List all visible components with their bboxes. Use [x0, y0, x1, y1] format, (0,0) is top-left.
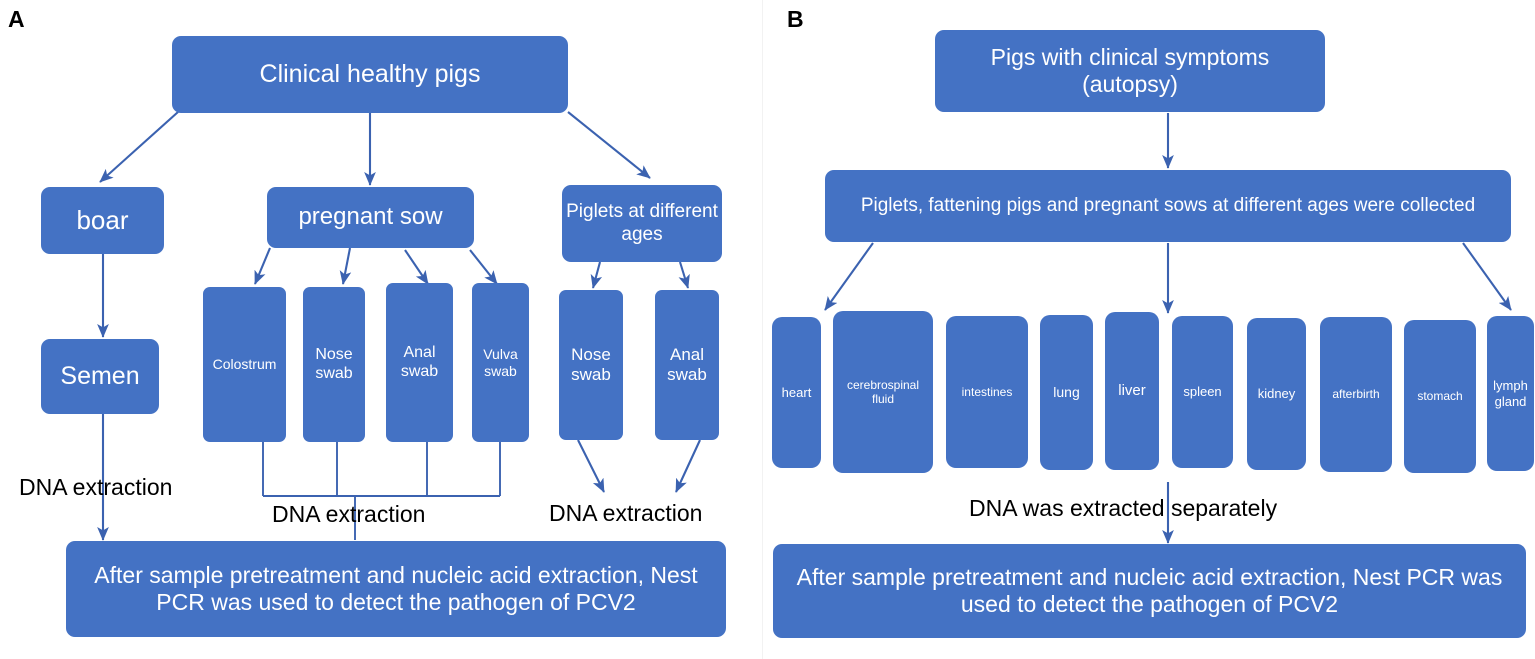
node-piglet-nose-swab[interactable]: Nose swab — [559, 290, 623, 440]
node-organ-spleen[interactable]: spleen — [1172, 316, 1233, 468]
node-organ-lung[interactable]: lung — [1040, 315, 1093, 470]
node-piglet-anal-swab[interactable]: Anal swab — [655, 290, 719, 440]
node-result-panel-a[interactable]: After sample pretreatment and nucleic ac… — [66, 541, 726, 637]
node-pregnant-sow[interactable]: pregnant sow — [267, 187, 474, 248]
node-sample-nose-swab[interactable]: Nose swab — [303, 287, 365, 442]
caption-dna-extracted-separately: DNA was extracted separately — [969, 497, 1277, 520]
node-sample-anal-swab[interactable]: Anal swab — [386, 283, 453, 442]
node-collection[interactable]: Piglets, fattening pigs and pregnant sow… — [825, 170, 1511, 242]
caption-piglet-dna-extraction: DNA extraction — [549, 502, 702, 525]
panel-b: B Pigs with clinical symptoms (autopsy) — [762, 0, 1535, 659]
panel-b-label: B — [787, 8, 804, 31]
node-piglets-different-ages[interactable]: Piglets at different ages — [562, 185, 722, 262]
node-boar[interactable]: boar — [41, 187, 164, 254]
node-organ-intestines[interactable]: intestines — [946, 316, 1028, 468]
caption-boar-dna-extraction: DNA extraction — [19, 476, 172, 499]
node-pigs-clinical-symptoms[interactable]: Pigs with clinical symptoms (autopsy) — [935, 30, 1325, 112]
caption-sow-dna-extraction: DNA extraction — [272, 503, 425, 526]
node-organ-stomach[interactable]: stomach — [1404, 320, 1476, 473]
node-organ-kidney[interactable]: kidney — [1247, 318, 1306, 470]
panel-a: A — [0, 0, 762, 659]
panel-a-label: A — [8, 8, 25, 31]
node-organ-lymph-gland[interactable]: lymph gland — [1487, 316, 1534, 471]
node-organ-heart[interactable]: heart — [772, 317, 821, 468]
node-sample-vulva-swab[interactable]: Vulva swab — [472, 283, 529, 442]
node-result-panel-b[interactable]: After sample pretreatment and nucleic ac… — [773, 544, 1526, 638]
figure-root: A — [0, 0, 1535, 659]
node-semen[interactable]: Semen — [41, 339, 159, 414]
node-clinical-healthy-pigs[interactable]: Clinical healthy pigs — [172, 36, 568, 113]
node-organ-afterbirth[interactable]: afterbirth — [1320, 317, 1392, 472]
node-organ-liver[interactable]: liver — [1105, 312, 1159, 470]
node-sample-colostrum[interactable]: Colostrum — [203, 287, 286, 442]
node-organ-cerebrospinal-fluid[interactable]: cerebrospinal fluid — [833, 311, 933, 473]
